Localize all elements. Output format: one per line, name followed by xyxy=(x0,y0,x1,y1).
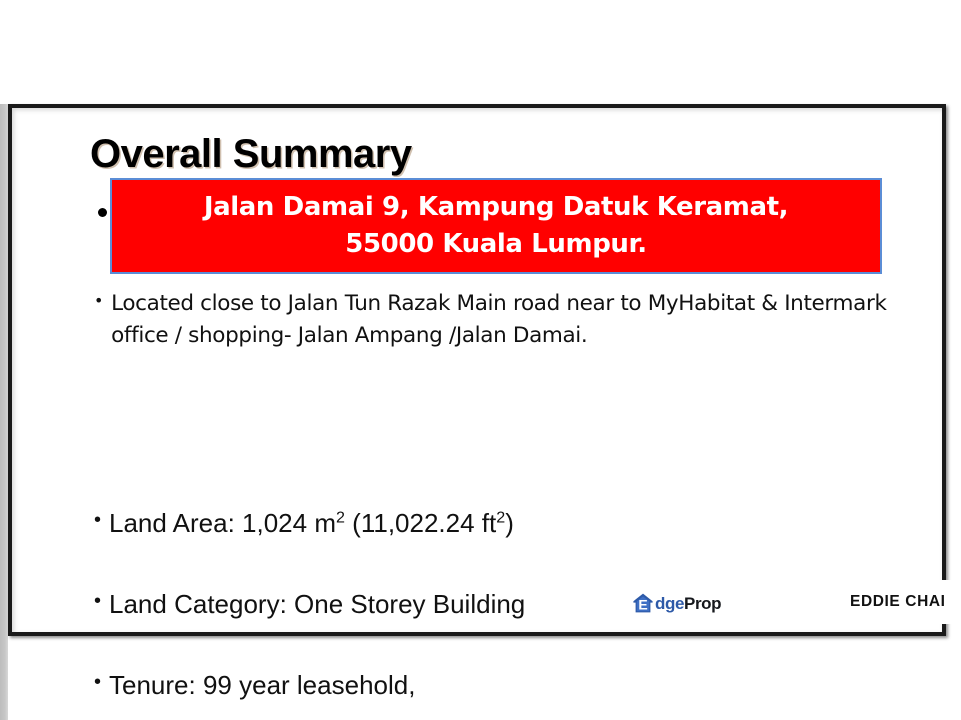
logo-text-prop: Prop xyxy=(684,595,721,612)
house-icon: E xyxy=(632,592,654,614)
land-area-label: Land Area: xyxy=(109,508,235,538)
logo-text-dge: dge xyxy=(655,595,684,612)
bullet-mark-icon: • xyxy=(94,670,101,692)
watermark-text: EDDIE CHAI xyxy=(832,593,946,611)
bullet-tenure: • Tenure: 99 year leasehold, xyxy=(94,670,914,701)
address-banner: Jalan Damai 9, Kampung Datuk Keramat, 55… xyxy=(110,178,882,274)
bullet-mark-icon: • xyxy=(94,288,103,309)
land-area-imperial-close: ) xyxy=(505,508,514,538)
bullet-land-area-text: Land Area: 1,024 m2 (11,022.24 ft2) xyxy=(109,508,914,539)
land-area-imperial-sup: 2 xyxy=(496,508,505,526)
land-area-imperial-open: (11,022.24 ft xyxy=(345,508,496,538)
bullet-mark-icon: • xyxy=(94,508,101,530)
land-area-metric-sup: 2 xyxy=(336,508,345,526)
bullet-location-text: Located close to Jalan Tun Razak Main ro… xyxy=(111,288,894,352)
svg-text:E: E xyxy=(638,597,647,613)
bullet-location: • Located close to Jalan Tun Razak Main … xyxy=(94,288,894,352)
slide-viewer: Overall Summary Jalan Damai 9, Kampung D… xyxy=(0,0,961,720)
edgeprop-logo: E dge Prop xyxy=(632,590,721,616)
bullet-tenure-text: Tenure: 99 year leasehold, xyxy=(109,670,914,701)
page-title: Overall Summary xyxy=(90,132,412,177)
slide-canvas: Overall Summary Jalan Damai 9, Kampung D… xyxy=(12,108,942,632)
bullet-mark-icon: • xyxy=(94,589,101,611)
address-banner-line-2: 55000 Kuala Lumpur. xyxy=(345,226,646,263)
address-banner-line-1: Jalan Damai 9, Kampung Datuk Keramat, xyxy=(204,189,788,226)
left-gutter-strip xyxy=(0,104,8,720)
watermark-band: EDDIE CHAI xyxy=(832,580,961,624)
banner-bullet-dot xyxy=(98,208,107,217)
bullet-land-area: • Land Area: 1,024 m2 (11,022.24 ft2) xyxy=(94,508,914,539)
slide-frame: Overall Summary Jalan Damai 9, Kampung D… xyxy=(8,104,946,636)
bullet-land-category-text: Land Category: One Storey Building xyxy=(109,589,914,620)
bullet-land-category: • Land Category: One Storey Building xyxy=(94,589,914,620)
land-area-metric: 1,024 m xyxy=(242,508,336,538)
